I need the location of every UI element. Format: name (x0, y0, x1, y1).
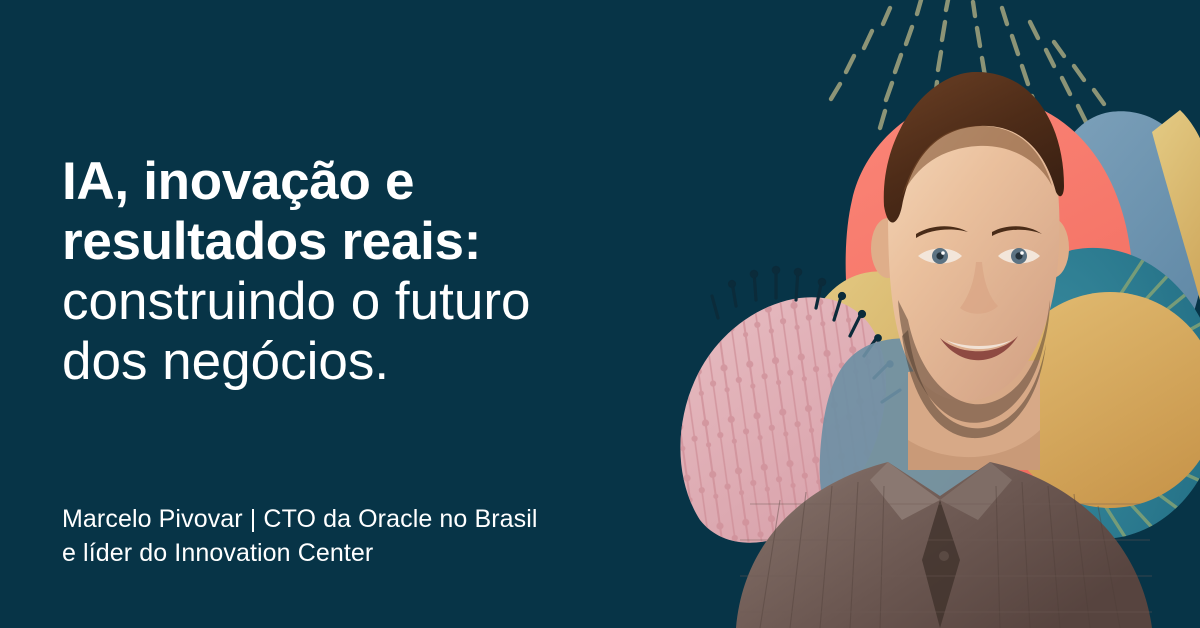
attribution-line-2: e líder do Innovation Center (62, 536, 702, 570)
artwork-composition (640, 0, 1200, 628)
promo-banner: IA, inovação e resultados reais: constru… (0, 0, 1200, 628)
text-column: IA, inovação e resultados reais: constru… (62, 0, 682, 628)
headline-line-1: IA, inovação e (62, 152, 682, 212)
headline: IA, inovação e resultados reais: constru… (62, 152, 682, 392)
attribution-line-1: Marcelo Pivovar | CTO da Oracle no Brasi… (62, 502, 702, 536)
speaker-attribution: Marcelo Pivovar | CTO da Oracle no Brasi… (62, 502, 702, 570)
headline-line-4: dos negócios. (62, 332, 682, 392)
shirt-button (939, 551, 949, 561)
headline-line-3: construindo o futuro (62, 272, 682, 332)
headline-line-2: resultados reais: (62, 212, 682, 272)
